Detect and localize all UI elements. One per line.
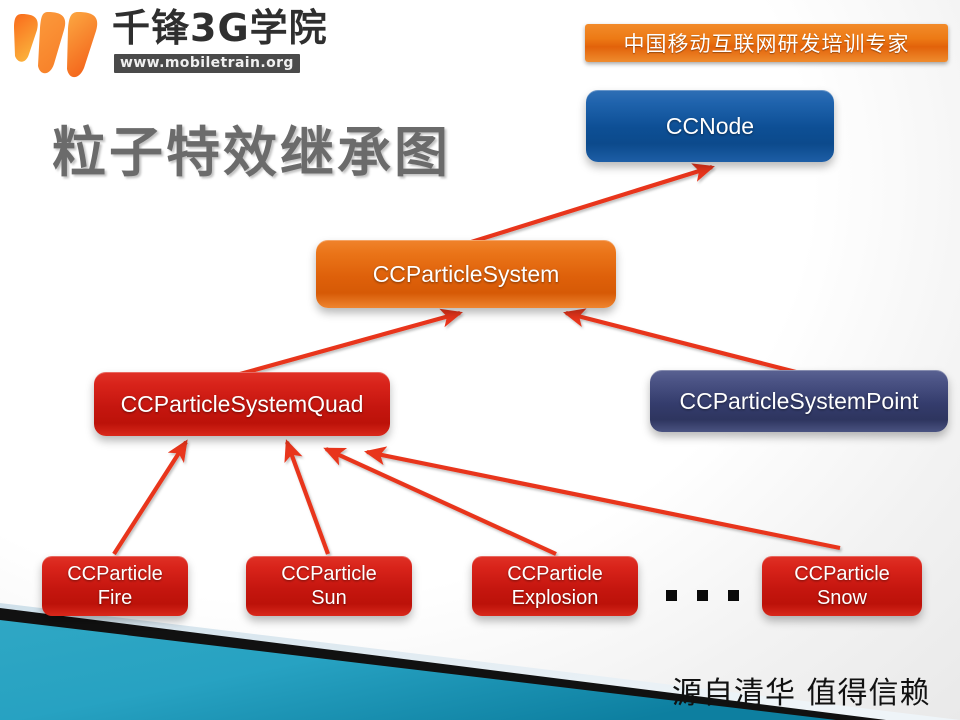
node-label: CCParticleSystemQuad (121, 390, 364, 418)
ellipsis-dot (728, 590, 739, 601)
node-label-stack: CCParticle Explosion (507, 562, 603, 610)
node-label: CCParticleSystem (373, 260, 560, 288)
ellipsis-dot (697, 590, 708, 601)
edge-particlesystem-to-ccnode (468, 167, 712, 243)
node-ccparticlesystemquad[interactable]: CCParticleSystemQuad (94, 372, 390, 436)
node-label-stack: CCParticle Snow (794, 562, 890, 610)
node-ccparticleexplosion[interactable]: CCParticle Explosion (472, 556, 638, 616)
edge-fire-to-quad (114, 442, 186, 554)
edge-explosion-to-quad (326, 449, 556, 554)
node-ccnode[interactable]: CCNode (586, 90, 834, 162)
node-ccparticlesystempoint[interactable]: CCParticleSystemPoint (650, 370, 948, 432)
node-ccparticlesystem[interactable]: CCParticleSystem (316, 240, 616, 308)
node-label-line2: Explosion (512, 587, 599, 609)
node-label-line1: CCParticle (507, 563, 603, 585)
node-label: CCNode (666, 112, 754, 140)
footer-slogan: 源自清华 值得信赖 (672, 668, 931, 712)
node-label-line2: Fire (98, 587, 132, 609)
edge-quad-to-particlesystem (240, 313, 460, 374)
node-label: CCParticleSystemPoint (679, 387, 918, 415)
node-label-stack: CCParticle Sun (281, 562, 377, 610)
node-label-line1: CCParticle (67, 563, 163, 585)
ellipsis-dot (666, 590, 677, 601)
node-label-stack: CCParticle Fire (67, 562, 163, 610)
node-ccparticlefire[interactable]: CCParticle Fire (42, 556, 188, 616)
node-ccparticlesnow[interactable]: CCParticle Snow (762, 556, 922, 616)
node-label-line2: Sun (311, 587, 347, 609)
edge-point-to-particlesystem (566, 313, 796, 372)
edge-sun-to-quad (287, 442, 328, 554)
node-ccparticlesun[interactable]: CCParticle Sun (246, 556, 412, 616)
slide-canvas: 千锋3G学院 www.mobiletrain.org 中国移动互联网研发培训专家… (0, 0, 960, 720)
node-label-line2: Snow (817, 587, 867, 609)
node-label-line1: CCParticle (281, 563, 377, 585)
node-label-line1: CCParticle (794, 563, 890, 585)
ellipsis-indicator (666, 590, 739, 601)
